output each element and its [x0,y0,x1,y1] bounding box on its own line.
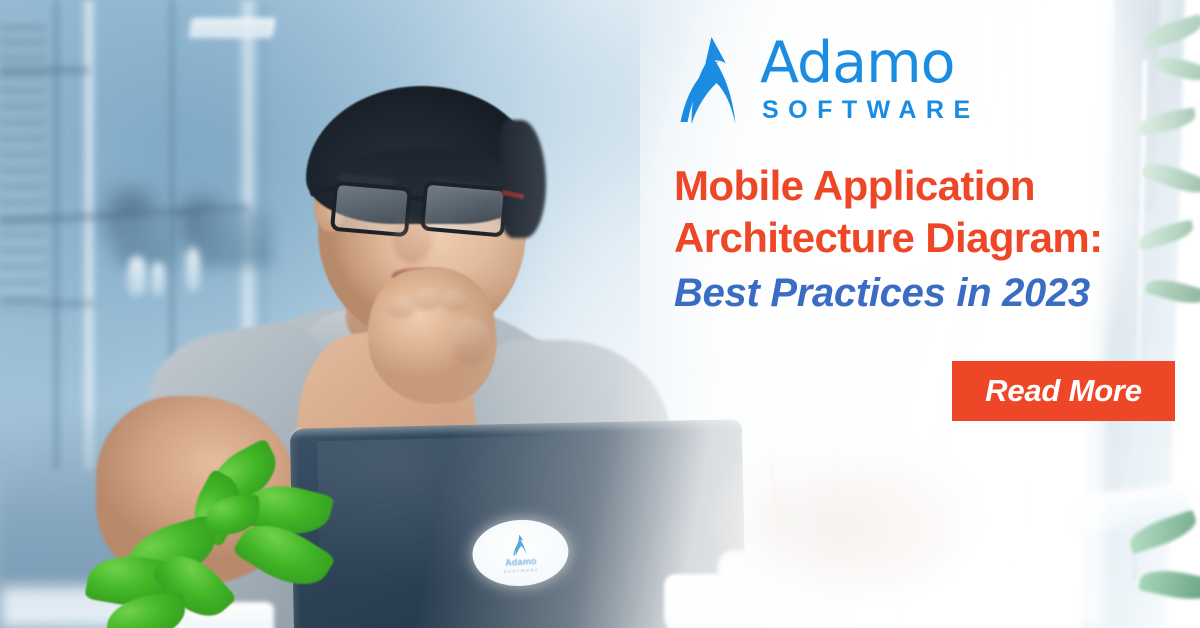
headline-line-1: Mobile Application [674,160,1194,212]
eyeglass-lens-right [420,180,508,237]
headline-subtitle: Best Practices in 2023 [674,266,1194,320]
subject-thumb [452,318,490,364]
brand-subtitle: SOFTWARE [760,96,980,125]
headline-block: Mobile Application Architecture Diagram:… [674,160,1194,320]
adamo-swoosh-logo-icon [678,36,744,124]
subject-nose [392,214,432,264]
content-panel: Adamo SOFTWARE Mobile Application Archit… [674,0,1200,628]
promo-banner: Adamo SOFTWARE [0,0,1200,628]
read-more-label: Read More [985,373,1142,409]
eyeglass-bridge [410,195,426,201]
brand-name: Adamo [760,36,980,91]
brand-lockup: Adamo SOFTWARE [678,36,980,125]
subject-knuckle [440,290,468,312]
sticker-brand-name: Adamo [505,556,537,568]
brand-text: Adamo SOFTWARE [760,36,980,125]
headline-line-2: Architecture Diagram: [674,212,1194,264]
sticker-brand-subtitle: SOFTWARE [504,566,540,573]
foreground-plant [88,452,338,628]
adamo-swoosh-logo-icon [506,533,533,556]
read-more-button[interactable]: Read More [952,361,1175,421]
subject-knuckle [412,288,442,310]
